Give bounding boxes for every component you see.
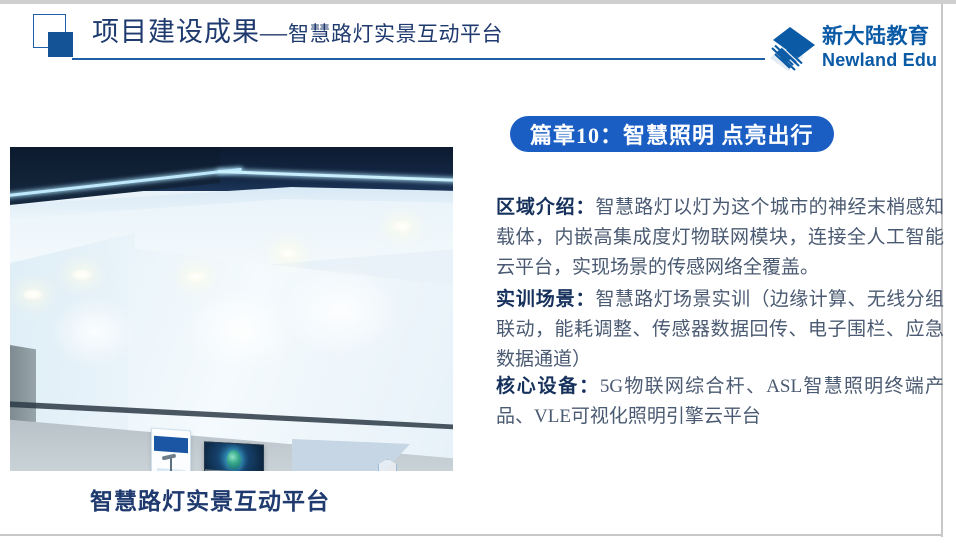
photo-wall-glow — [186, 287, 296, 373]
photo-caption: 智慧路灯实景互动平台 — [90, 482, 330, 516]
photo-downlight — [278, 248, 298, 259]
slide-top-border — [0, 0, 956, 4]
brand-logo-text: 新大陆教育 Newland Edu — [822, 24, 934, 71]
section-area-introduction: 区域介绍：智慧路灯以灯为这个城市的神经末梢感知载体，内嵌高集成度灯物联网模块，连… — [496, 193, 944, 283]
slide-bottom-border — [0, 534, 943, 536]
section-core-equipment: 核心设备：5G物联网综合杆、ASL智慧照明终端产品、VLE可视化照明引擎云平台 — [496, 372, 944, 432]
photo-downlight — [186, 271, 206, 282]
newland-diamond-logo-icon — [764, 26, 816, 76]
page-title: 项目建设成果—智慧路灯实景互动平台 — [92, 19, 503, 46]
photo-wall-glow — [282, 265, 402, 357]
chapter-banner: 篇章10：智慧照明 点亮出行 — [510, 116, 834, 152]
exhibition-hall-photo — [10, 147, 453, 471]
photo-banner-title-bar — [154, 436, 189, 454]
section-label: 实训场景： — [496, 289, 595, 310]
page-title-main: 项目建设成果— — [92, 17, 288, 47]
decor-square-filled-icon — [48, 32, 73, 57]
photo-downlight — [23, 289, 43, 300]
brand-logo: 新大陆教育 Newland Edu — [764, 24, 934, 80]
photo-wall-monitor — [204, 441, 264, 471]
photo-downlight — [392, 221, 412, 232]
section-label: 核心设备： — [496, 376, 600, 397]
section-label: 区域介绍： — [496, 197, 595, 218]
page-title-sub: 智慧路灯实景互动平台 — [288, 22, 503, 46]
photo-wall-glow — [50, 297, 140, 367]
photo-downlight — [72, 269, 92, 280]
title-underline-rule — [72, 58, 765, 60]
brand-name-cn: 新大陆教育 — [822, 24, 934, 49]
slide-right-margin — [943, 4, 956, 543]
slide-canvas: 项目建设成果—智慧路灯实景互动平台 新大陆教育 Newland Edu — [0, 0, 956, 543]
brand-name-en: Newland Edu — [822, 49, 934, 71]
section-training-scenarios: 实训场景：智慧路灯场景实训（边缘计算、无线分组联动，能耗调整、传感器数据回传、电… — [496, 285, 944, 375]
